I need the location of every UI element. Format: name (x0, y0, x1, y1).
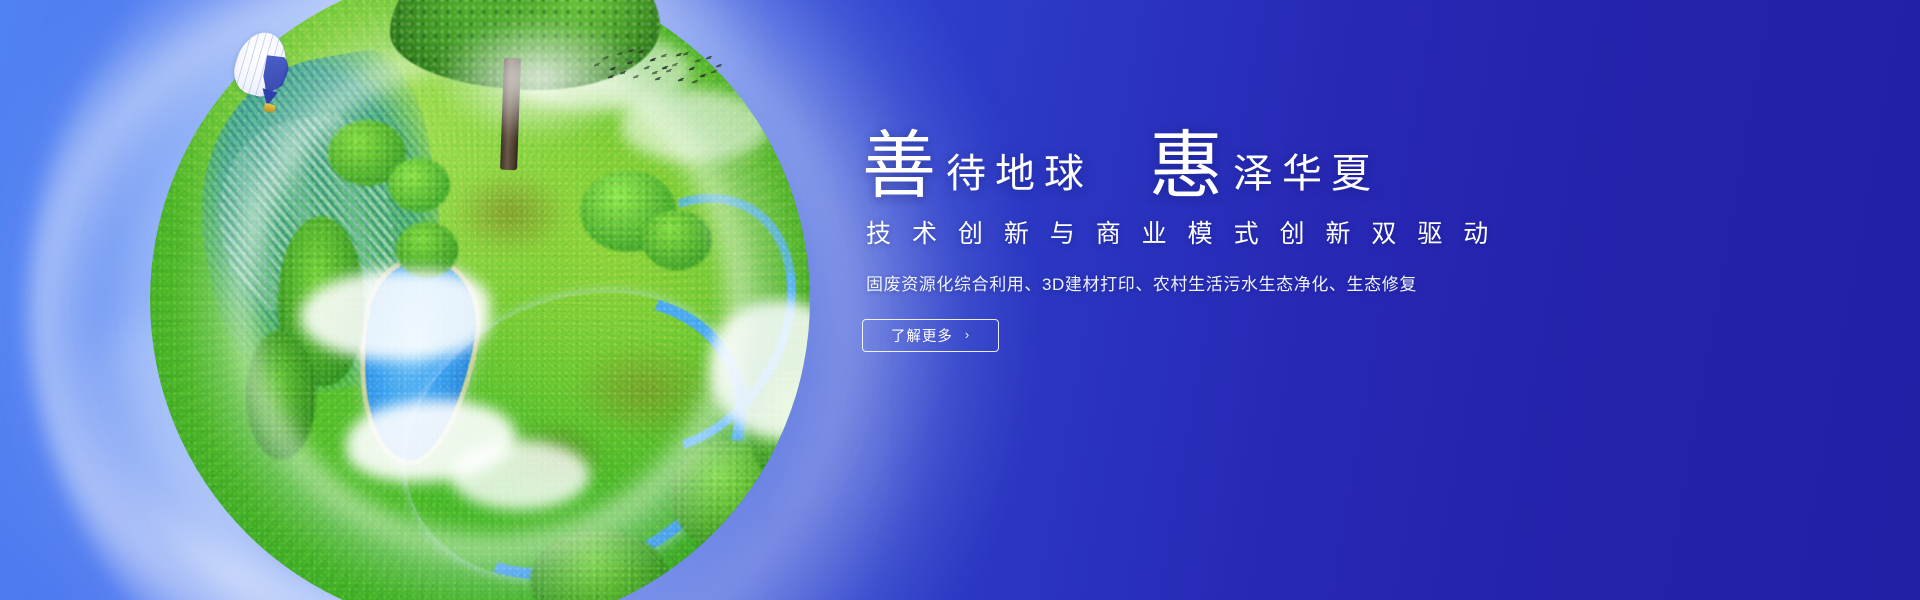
bird-icon (627, 62, 632, 65)
bird-icon (711, 71, 716, 74)
cloud (450, 440, 590, 510)
learn-more-label: 了解更多 (891, 325, 953, 346)
hot-air-balloon-icon (236, 32, 294, 132)
bird-icon (672, 64, 677, 67)
hero-copy: 善 待地球 惠 泽华夏 技 术 创 新 与 商 业 模 式 创 新 双 驱 动 … (862, 126, 1602, 352)
bird-icon (603, 57, 608, 60)
bird-icon (695, 60, 700, 63)
bird-icon (652, 72, 657, 75)
chevron-right-icon: › (965, 328, 970, 341)
bird-icon (683, 53, 688, 56)
bird-icon (633, 76, 638, 79)
headline-rest-2: 泽华夏 (1233, 154, 1380, 194)
cloud (300, 270, 490, 360)
bird-icon (610, 68, 615, 71)
bird-icon (644, 67, 649, 70)
balloon-basket (263, 103, 276, 114)
bird-icon (608, 76, 613, 79)
subtitle: 技 术 创 新 与 商 业 模 式 创 新 双 驱 动 (866, 214, 1602, 250)
bird-icon (662, 67, 667, 70)
learn-more-button[interactable]: 了解更多 › (862, 319, 999, 352)
description-text: 固废资源化综合利用、3D建材打印、农村生活污水生态净化、生态修复 (866, 270, 1602, 295)
headline-rest-1: 待地球 (946, 154, 1093, 194)
bird-icon (706, 57, 711, 60)
bird-icon (661, 55, 666, 58)
headline-lead-char-2: 惠 (1149, 130, 1223, 204)
bird-icon (678, 79, 683, 82)
bird-icon (700, 75, 705, 78)
bird-icon (716, 65, 721, 68)
bird-icon (692, 81, 697, 84)
bird-flock-icon (592, 48, 722, 94)
bird-icon (676, 54, 681, 57)
page-title: 善 待地球 惠 泽华夏 (862, 126, 1602, 200)
bird-icon (638, 51, 643, 54)
hero-banner: 善 待地球 惠 泽华夏 技 术 创 新 与 商 业 模 式 创 新 双 驱 动 … (0, 0, 1920, 600)
bird-icon (620, 72, 625, 75)
headline-lead-char-1: 善 (862, 130, 936, 204)
bird-icon (617, 53, 622, 56)
bird-icon (594, 64, 599, 67)
bird-icon (655, 78, 660, 81)
bird-icon (689, 68, 694, 71)
bird-icon (666, 70, 671, 73)
bird-icon (650, 59, 655, 62)
bird-icon (628, 50, 633, 53)
